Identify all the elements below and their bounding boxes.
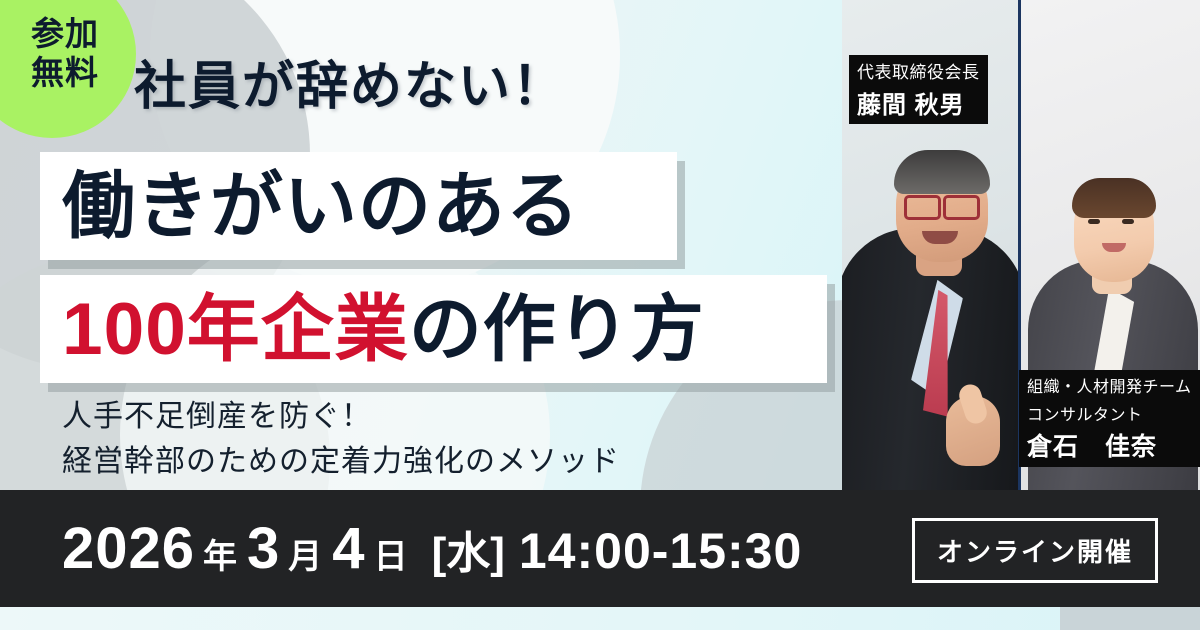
portrait2-eye-left — [1088, 219, 1100, 224]
event-time: 14:00-15:30 — [519, 522, 802, 580]
event-day-of-week: [水] — [432, 517, 505, 581]
title-band-1: 働きがいのある — [40, 152, 677, 260]
subtitle-line-1: 人手不足倒産を防ぐ！ — [62, 394, 620, 439]
event-day: 4 — [332, 515, 365, 582]
free-badge-line1: 参加 — [31, 16, 99, 53]
portrait2-fringe — [1072, 178, 1156, 218]
speaker-nametag-1: 代表取締役会長 藤間 秋男 — [849, 55, 988, 124]
online-event-badge: オンライン開催 — [912, 518, 1158, 583]
speaker-1-name: 藤間 秋男 — [849, 84, 988, 124]
bottom-strip — [0, 607, 1200, 630]
title-line-2: 100年企業の作り方 — [40, 293, 705, 366]
event-day-unit: 日 — [374, 529, 408, 578]
bottom-strip-accent — [1060, 607, 1200, 630]
subtitle-line-2: 経営幹部のための定着力強化のメソッド — [62, 439, 620, 484]
portrait-glasses — [902, 195, 982, 214]
title-line-2-rest: の作り方 — [409, 289, 705, 370]
portrait2-eye-right — [1122, 219, 1134, 224]
event-year-unit: 年 — [203, 529, 237, 578]
event-datetime: 2026 年 3 月 4 日 [水] 14:00-15:30 — [62, 515, 802, 582]
speaker-2-name: 倉石 佳奈 — [1019, 426, 1200, 467]
kicker-headline: 社員が辞めない！ — [134, 44, 566, 119]
event-year: 2026 — [62, 515, 195, 582]
speaker-1-role: 代表取締役会長 — [849, 55, 988, 84]
event-month-unit: 月 — [288, 529, 322, 578]
title-highlight: 100年企業 — [62, 289, 409, 370]
footer-bar: 2026 年 3 月 4 日 [水] 14:00-15:30 オンライン開催 — [0, 490, 1200, 607]
speaker-nametag-2: 組織・人材開発チーム コンサルタント 倉石 佳奈 — [1019, 370, 1200, 467]
event-month: 3 — [247, 515, 280, 582]
seminar-banner: 参加 無料 社員が辞めない！ 働きがいのある 100年企業の作り方 人手不足倒産… — [0, 0, 1200, 630]
title-line-1: 働きがいのある — [40, 170, 580, 243]
free-badge-line2: 無料 — [31, 55, 99, 92]
title-band-2: 100年企業の作り方 — [40, 275, 827, 383]
portrait-hair — [894, 150, 990, 194]
speaker-2-role-line1: 組織・人材開発チーム — [1019, 370, 1200, 398]
speaker-2-role-line2: コンサルタント — [1019, 398, 1200, 426]
subtitle-block: 人手不足倒産を防ぐ！ 経営幹部のための定着力強化のメソッド — [62, 394, 620, 484]
